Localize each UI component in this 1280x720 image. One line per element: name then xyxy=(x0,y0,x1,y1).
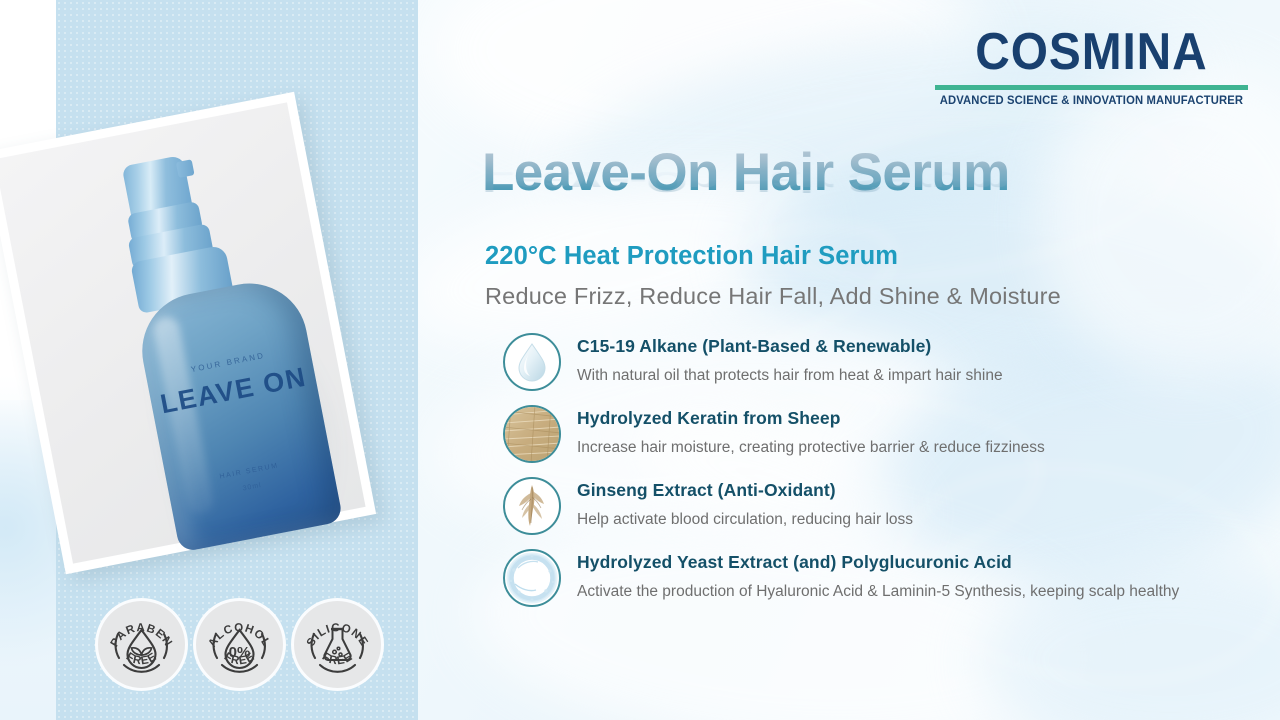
product-slide: YOUR BRAND LEAVE ON HAIR SERUM 30ml PARA… xyxy=(0,0,1280,720)
feature-title: Hydrolyzed Yeast Extract (and) Polyglucu… xyxy=(577,552,1179,573)
feature-title: Ginseng Extract (Anti-Oxidant) xyxy=(577,480,913,501)
hero-benefits-line: Reduce Frizz, Reduce Hair Fall, Add Shin… xyxy=(485,283,1061,310)
keratin-fiber-icon xyxy=(503,405,561,463)
brand-tagline: ADVANCED SCIENCE & INNOVATION MANUFACTUR… xyxy=(940,94,1244,107)
svg-text:SILICONE: SILICONE xyxy=(305,622,370,649)
feature-item: Hydrolyzed Keratin from Sheep Increase h… xyxy=(503,405,1203,463)
brand-logo: COSMINA ADVANCED SCIENCE & INNOVATION MA… xyxy=(935,28,1248,107)
feature-title: Hydrolyzed Keratin from Sheep xyxy=(577,408,1045,429)
badge-paraben-free: PARABEN FREE xyxy=(98,601,185,688)
hero-title-wrap: Leave-On Hair Serum xyxy=(482,146,1182,199)
ginseng-root-icon xyxy=(503,477,561,535)
brand-name: COSMINA xyxy=(948,28,1236,78)
feature-description: Help activate blood circulation, reducin… xyxy=(577,508,913,532)
feature-description: Activate the production of Hyaluronic Ac… xyxy=(577,580,1179,604)
svg-text:PARABEN: PARABEN xyxy=(109,622,175,649)
free-from-badge-group: PARABEN FREE xyxy=(98,601,381,688)
feature-item: C15-19 Alkane (Plant-Based & Renewable) … xyxy=(503,333,1203,391)
logo-divider-rule xyxy=(935,85,1248,90)
feature-item: Hydrolyzed Yeast Extract (and) Polyglucu… xyxy=(503,549,1203,607)
feature-item: Ginseng Extract (Anti-Oxidant) Help acti… xyxy=(503,477,1203,535)
page-title: Leave-On Hair Serum xyxy=(482,146,1182,199)
badge-inner-label: 0% xyxy=(229,644,251,661)
hero-subtitle: 220°C Heat Protection Hair Serum xyxy=(485,242,898,271)
badge-top-label: SILICONE xyxy=(305,622,370,649)
badge-alcohol-free: ALCOHOL FREE 0% xyxy=(196,601,283,688)
badge-silicone-free: SILICONE FREE xyxy=(294,601,381,688)
feature-title: C15-19 Alkane (Plant-Based & Renewable) xyxy=(577,336,1003,357)
water-droplet-icon xyxy=(503,333,561,391)
badge-top-label: PARABEN xyxy=(109,622,175,649)
feature-list: C15-19 Alkane (Plant-Based & Renewable) … xyxy=(503,333,1203,621)
feature-description: With natural oil that protects hair from… xyxy=(577,364,1003,388)
feature-description: Increase hair moisture, creating protect… xyxy=(577,436,1045,460)
water-splash-ring-icon xyxy=(503,549,561,607)
